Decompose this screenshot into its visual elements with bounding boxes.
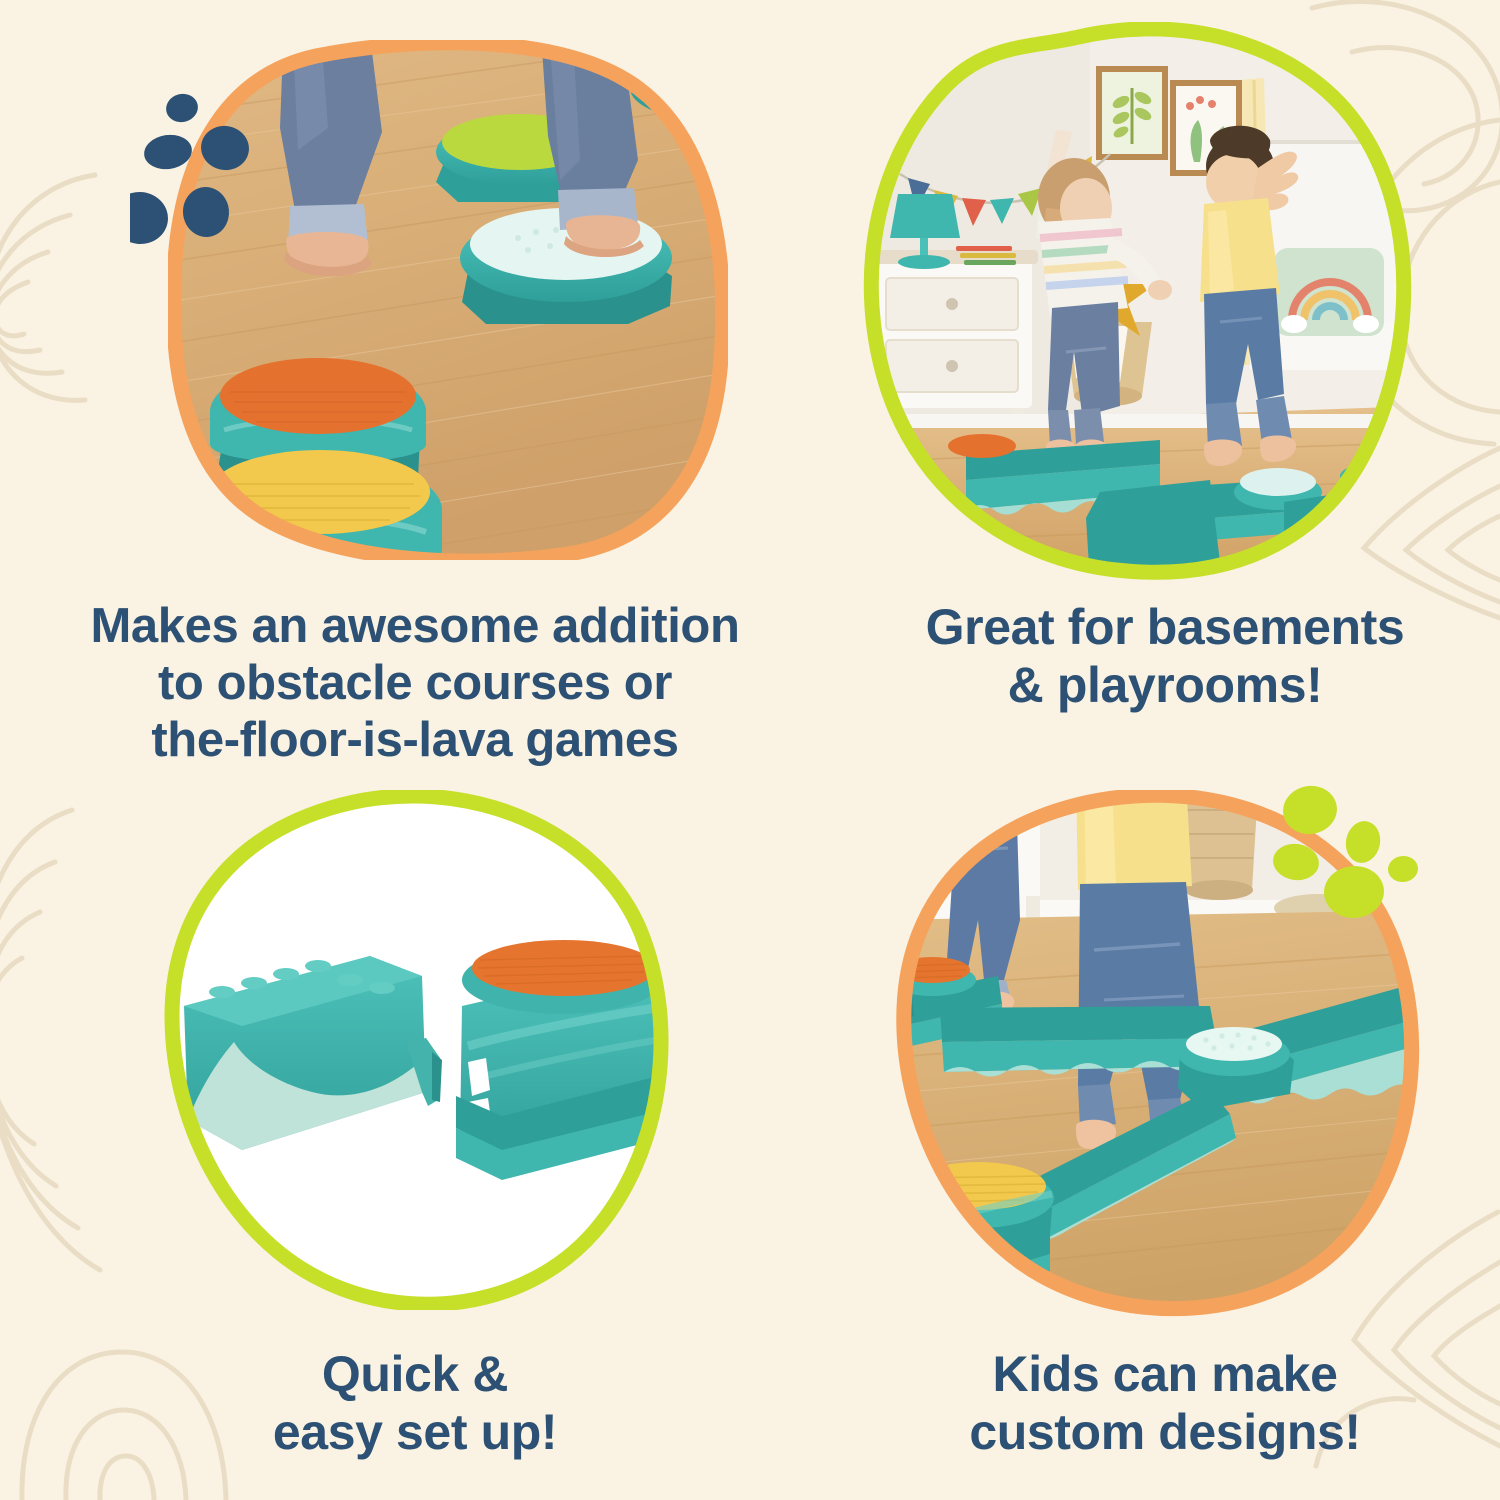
caption-bottom-left: Quick & easy set up! [10, 1345, 820, 1461]
panel-bottom-left: Quick & easy set up! [0, 790, 830, 1500]
panel-top-right: Great for basements & playrooms! [830, 0, 1500, 790]
caption-top-left: Makes an awesome addition to obstacle co… [10, 598, 820, 768]
decorative-dots-navy [130, 90, 270, 250]
feature-grid: Makes an awesome addition to obstacle co… [0, 0, 1500, 1500]
caption-top-right: Great for basements & playrooms! [840, 598, 1490, 714]
panel-top-left: Makes an awesome addition to obstacle co… [0, 0, 830, 790]
caption-bottom-right: Kids can make custom designs! [840, 1345, 1490, 1461]
photo-top-right [860, 22, 1420, 582]
panel-bottom-right: Kids can make custom designs! [830, 790, 1500, 1500]
decorative-dots-lime [1266, 780, 1446, 940]
photo-bottom-left [150, 790, 690, 1310]
